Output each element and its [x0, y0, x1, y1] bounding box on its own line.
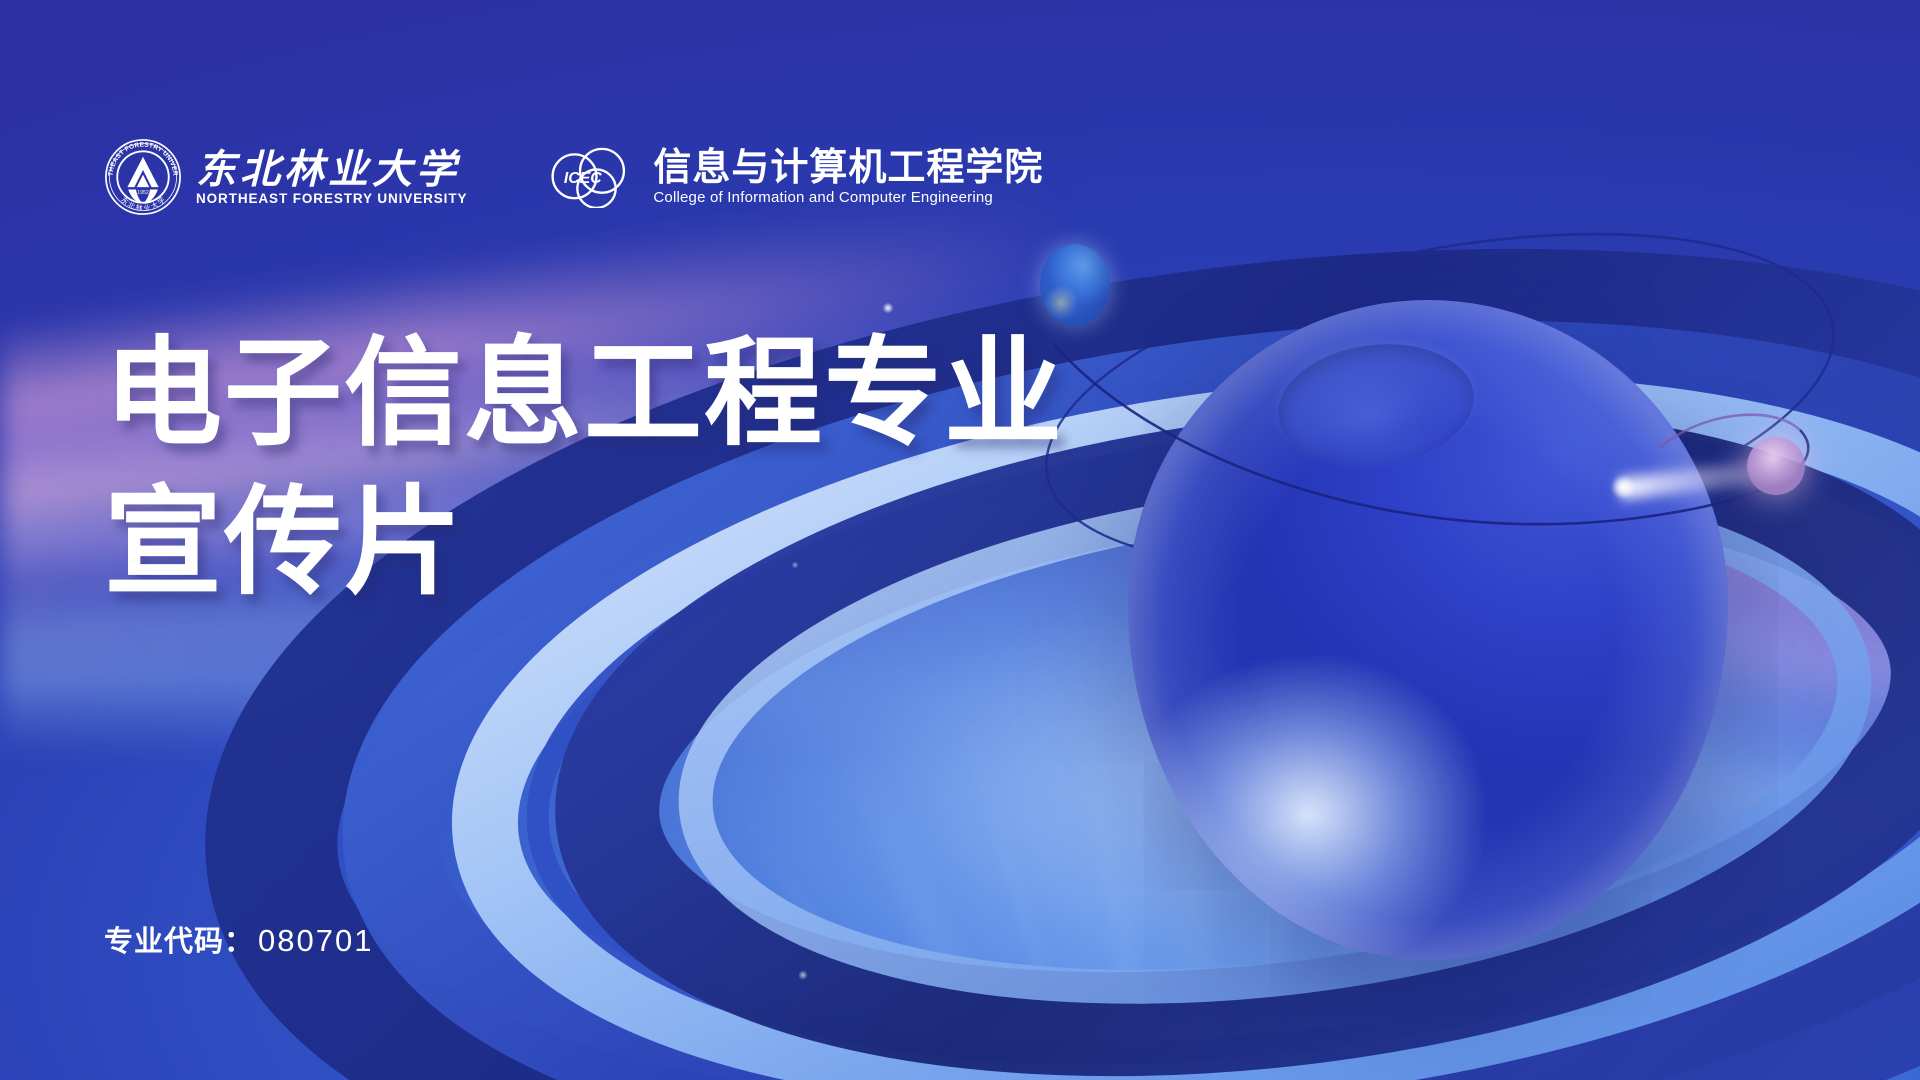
planet-sphere: [1128, 300, 1728, 960]
icec-mark-text: ICEC: [564, 170, 602, 187]
icec-circles-icon: ICEC: [543, 146, 639, 208]
moon-pink-sphere: [1747, 437, 1805, 495]
moon-blue-sphere: [1040, 244, 1110, 326]
college-name-cn: 信息与计算机工程学院: [653, 149, 1043, 187]
sparkle-icon: [880, 300, 896, 316]
university-name-cn: 东北林业大学: [196, 150, 467, 190]
university-logo[interactable]: NORTHEAST FORESTRY UNIVERSITY 东 北 林 业 大 …: [104, 138, 467, 216]
planet-rim-light: [1128, 300, 1728, 960]
page-title: 电子信息工程专业 宣传片: [104, 320, 1064, 617]
major-code-value: 080701: [258, 923, 373, 959]
college-name-en: College of Information and Computer Engi…: [653, 190, 1043, 205]
university-name-en: NORTHEAST FORESTRY UNIVERSITY: [196, 192, 467, 206]
title-slide: NORTHEAST FORESTRY UNIVERSITY 东 北 林 业 大 …: [0, 0, 1920, 1080]
title-line-1: 电子信息工程专业: [104, 320, 1064, 469]
college-logo[interactable]: ICEC 信息与计算机工程学院 College of Information a…: [543, 146, 1043, 208]
major-code-label: 专业代码：: [104, 918, 254, 960]
major-code: 专业代码： 080701: [104, 918, 373, 960]
seal-year: 1952: [137, 190, 149, 196]
nefu-seal-icon: NORTHEAST FORESTRY UNIVERSITY 东 北 林 业 大 …: [104, 138, 182, 216]
title-line-2: 宣传片: [104, 469, 1064, 618]
header-logos: NORTHEAST FORESTRY UNIVERSITY 东 北 林 业 大 …: [104, 138, 1043, 216]
light-flare: [1606, 470, 1640, 504]
sparkle-icon: [796, 968, 810, 982]
